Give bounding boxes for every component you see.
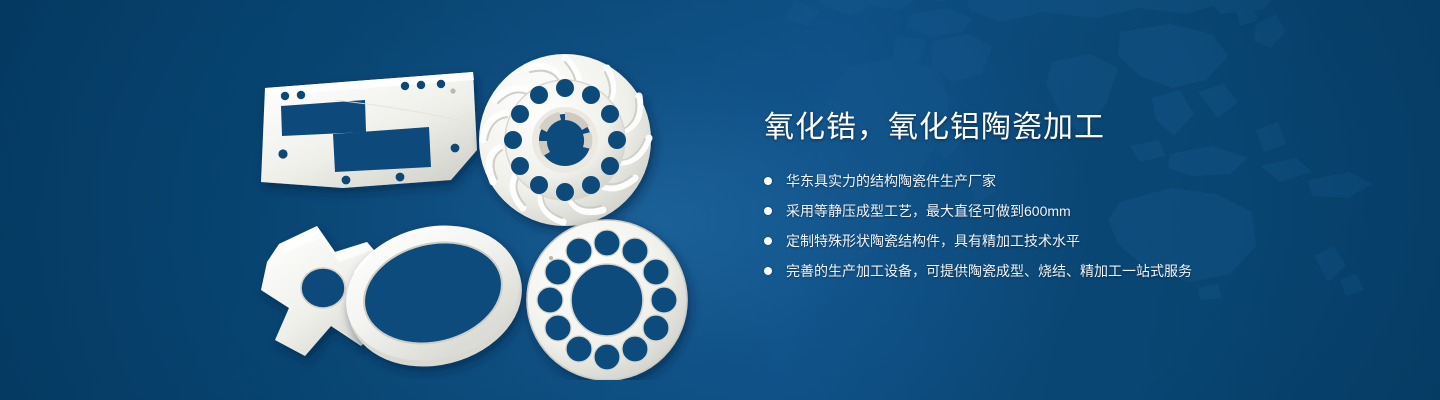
list-item: 定制特殊形状陶瓷结构件，具有精加工技术水平 (764, 230, 1324, 252)
ceramic-impeller-part (479, 54, 651, 226)
list-item: 完善的生产加工设备，可提供陶瓷成型、烧结、精加工一站式服务 (764, 260, 1324, 282)
ceramic-hole-disc-part (527, 220, 687, 380)
bullet-dot-icon (764, 207, 772, 215)
bullet-dot-icon (764, 267, 772, 275)
product-photo-group (215, 30, 735, 380)
bullet-dot-icon (764, 237, 772, 245)
ceramic-ring-part (332, 208, 537, 380)
banner-text-block: 氧化锆，氧化铝陶瓷加工 华东具实力的结构陶瓷件生产厂家 采用等静压成型工艺，最大… (764, 108, 1324, 290)
hero-banner: 氧化锆，氧化铝陶瓷加工 华东具实力的结构陶瓷件生产厂家 采用等静压成型工艺，最大… (0, 0, 1440, 400)
feature-list: 华东具实力的结构陶瓷件生产厂家 采用等静压成型工艺，最大直径可做到600mm 定… (764, 170, 1324, 282)
feature-text: 采用等静压成型工艺，最大直径可做到600mm (786, 200, 1071, 222)
feature-text: 定制特殊形状陶瓷结构件，具有精加工技术水平 (786, 230, 1080, 252)
page-title: 氧化锆，氧化铝陶瓷加工 (764, 108, 1324, 148)
feature-text: 完善的生产加工设备，可提供陶瓷成型、烧结、精加工一站式服务 (786, 260, 1192, 282)
bullet-dot-icon (764, 177, 772, 185)
feature-text: 华东具实力的结构陶瓷件生产厂家 (786, 170, 996, 192)
list-item: 华东具实力的结构陶瓷件生产厂家 (764, 170, 1324, 192)
ceramic-plate-part (261, 72, 477, 188)
list-item: 采用等静压成型工艺，最大直径可做到600mm (764, 200, 1324, 222)
